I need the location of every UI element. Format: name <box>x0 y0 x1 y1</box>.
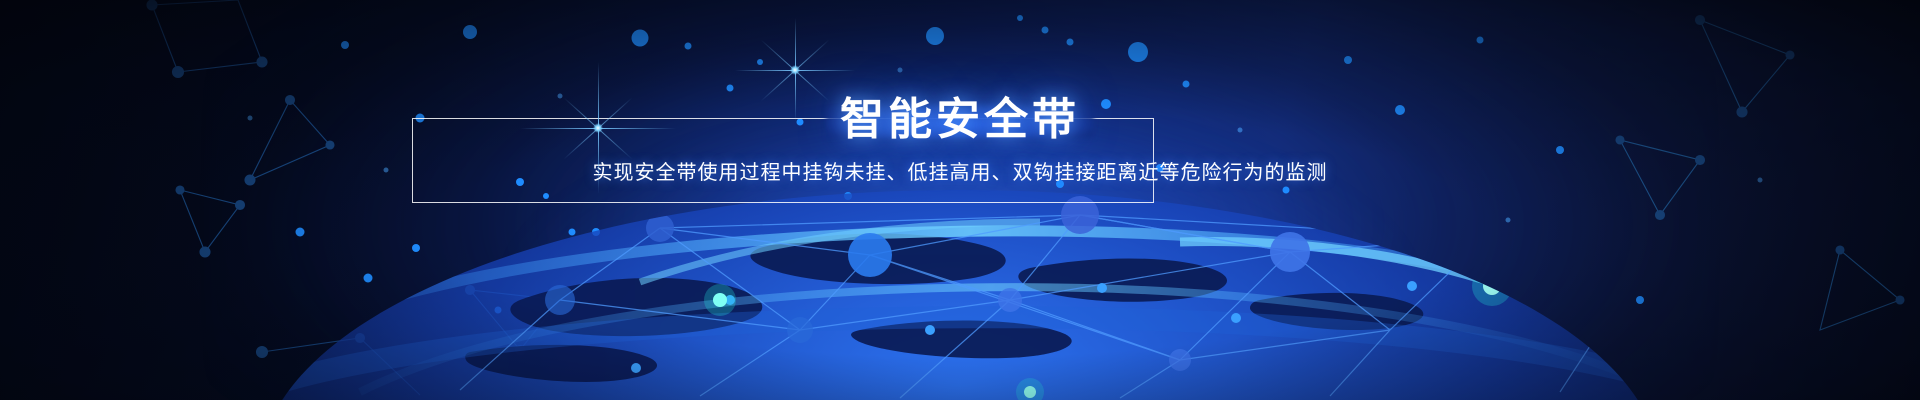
star-sparkle <box>598 128 600 130</box>
page-title: 智能安全带 <box>0 92 1920 148</box>
page-subtitle: 实现安全带使用过程中挂钩未挂、低挂高用、双钩挂接距离近等危险行为的监测 <box>0 157 1920 189</box>
page-title-text: 智能安全带 <box>818 92 1102 148</box>
hero-banner: 智能安全带 实现安全带使用过程中挂钩未挂、低挂高用、双钩挂接距离近等危险行为的监… <box>0 0 1920 400</box>
star-sparkle-secondary <box>795 70 797 72</box>
